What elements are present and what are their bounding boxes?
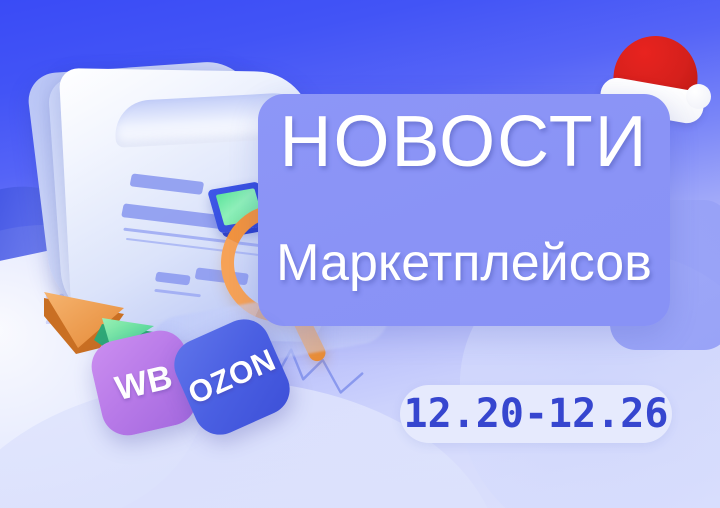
page-title: НОВОСТИ	[258, 106, 670, 178]
page-subtitle: Маркетплейсов	[258, 237, 670, 289]
news-banner-poster: НОВОСТИ Маркетплейсов 12.20-12.26 WB OZO…	[0, 0, 720, 508]
marketplace-tile-wb-label: WB	[112, 358, 177, 409]
santa-hat-pompom	[686, 84, 711, 109]
date-range-label: 12.20-12.26	[404, 391, 669, 437]
headline-card: НОВОСТИ Маркетплейсов	[258, 94, 670, 326]
date-range-badge: 12.20-12.26	[400, 385, 672, 443]
marketplace-tile-ozon-label: OZON	[183, 342, 281, 412]
paper-text-line	[130, 173, 205, 194]
